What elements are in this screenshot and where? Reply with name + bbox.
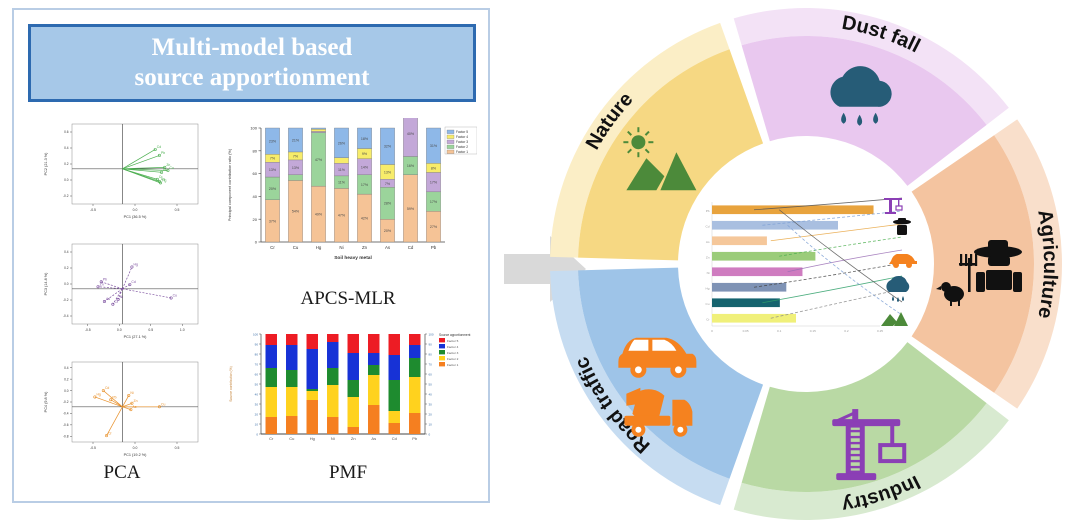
svg-text:16%: 16%: [407, 164, 415, 168]
title-line-1: Multi-model based: [152, 34, 353, 61]
svg-text:42%: 42%: [361, 217, 369, 221]
svg-text:Factor 1: Factor 1: [447, 363, 459, 367]
svg-text:PC3 (14.8 %): PC3 (14.8 %): [44, 272, 48, 296]
svg-text:Hg: Hg: [316, 245, 322, 250]
svg-text:0: 0: [429, 432, 431, 436]
svg-text:Factor 3: Factor 3: [447, 351, 459, 355]
svg-text:Source contribution (%): Source contribution (%): [229, 366, 233, 401]
svg-text:0.5: 0.5: [175, 446, 180, 450]
title-banner: Multi-model based source apportionment: [28, 24, 476, 102]
svg-text:-0.5: -0.5: [90, 208, 96, 212]
svg-text:90: 90: [255, 342, 259, 346]
svg-text:100: 100: [250, 126, 257, 131]
svg-text:Factor 5: Factor 5: [447, 339, 459, 343]
svg-text:26%: 26%: [338, 141, 346, 145]
svg-text:Cd: Cd: [157, 145, 161, 149]
svg-text:30: 30: [255, 402, 259, 406]
svg-text:Factor 5: Factor 5: [456, 130, 468, 134]
svg-text:-0.5: -0.5: [85, 328, 91, 332]
svg-text:Cu: Cu: [289, 436, 294, 441]
svg-text:80: 80: [429, 352, 433, 356]
svg-text:0.15: 0.15: [810, 329, 816, 333]
svg-text:40: 40: [255, 392, 259, 396]
svg-text:Hg: Hg: [134, 263, 138, 267]
svg-text:Hg: Hg: [162, 178, 166, 182]
svg-text:7%: 7%: [270, 157, 276, 161]
svg-text:70: 70: [255, 362, 259, 366]
svg-text:0.4: 0.4: [64, 366, 69, 370]
svg-text:Source apportionment: Source apportionment: [439, 333, 470, 337]
caption-pmf: PMF: [219, 462, 477, 484]
svg-text:Factor 2: Factor 2: [447, 357, 459, 361]
svg-text:Soil heavy metal: Soil heavy metal: [334, 255, 372, 261]
svg-text:30: 30: [429, 402, 433, 406]
pca-biplot-2: HgCdPbZnCuNiCrAs-0.50.00.51.0-0.4-0.20.0…: [38, 236, 206, 348]
svg-text:14%: 14%: [361, 165, 369, 169]
svg-text:27%: 27%: [430, 225, 438, 229]
svg-text:20%: 20%: [384, 229, 392, 233]
svg-text:As: As: [132, 405, 136, 409]
svg-text:40: 40: [429, 392, 433, 396]
svg-text:Pb: Pb: [706, 209, 710, 213]
svg-text:-0.2: -0.2: [63, 400, 69, 404]
pca-biplot-3: CdHgNiPbZnCuAsCr-0.50.00.5-0.8-0.6-0.4-0…: [38, 354, 206, 466]
svg-text:Zn: Zn: [351, 436, 356, 441]
svg-text:Cu: Cu: [161, 402, 165, 406]
svg-text:As: As: [371, 436, 376, 441]
svg-text:0.0: 0.0: [64, 282, 69, 286]
svg-text:Cr: Cr: [269, 436, 274, 441]
svg-text:17%: 17%: [430, 181, 438, 185]
svg-text:11%: 11%: [338, 168, 346, 172]
svg-text:50: 50: [429, 382, 433, 386]
svg-text:47%: 47%: [338, 214, 346, 218]
svg-text:17%: 17%: [361, 183, 369, 187]
pmf-chart: 0010102020303040405050606070708080909010…: [219, 322, 477, 462]
svg-text:47%: 47%: [315, 158, 323, 162]
svg-text:80: 80: [255, 352, 259, 356]
svg-text:Cr: Cr: [706, 317, 709, 321]
svg-text:Factor 2: Factor 2: [456, 145, 468, 149]
svg-text:0.0: 0.0: [133, 208, 138, 212]
svg-text:Cd: Cd: [408, 245, 414, 250]
svg-text:13%: 13%: [269, 168, 277, 172]
svg-text:Ni: Ni: [130, 391, 133, 395]
svg-text:PC1 (19.2 %): PC1 (19.2 %): [124, 453, 148, 457]
svg-text:0.0: 0.0: [133, 446, 138, 450]
svg-text:Zn: Zn: [100, 282, 104, 286]
svg-text:0.4: 0.4: [64, 146, 69, 150]
svg-text:59%: 59%: [407, 207, 415, 211]
svg-text:Cu: Cu: [170, 166, 174, 170]
svg-text:23%: 23%: [269, 140, 277, 144]
svg-text:Cu: Cu: [293, 245, 299, 250]
svg-text:100: 100: [253, 332, 258, 336]
caption-apcs-mlr: APCS-MLR: [219, 288, 477, 310]
svg-text:0.1: 0.1: [777, 329, 782, 333]
svg-text:As: As: [106, 297, 110, 301]
svg-text:0.2: 0.2: [64, 377, 69, 381]
svg-text:Ni: Ni: [707, 271, 710, 275]
svg-text:0.25: 0.25: [877, 329, 883, 333]
svg-text:9%: 9%: [362, 152, 368, 156]
svg-text:-0.8: -0.8: [63, 434, 69, 438]
svg-text:-0.4: -0.4: [63, 412, 69, 416]
svg-text:0.0: 0.0: [64, 178, 69, 182]
svg-text:100: 100: [429, 332, 434, 336]
svg-text:17%: 17%: [430, 200, 438, 204]
svg-text:Ni: Ni: [163, 168, 166, 172]
svg-text:0.5: 0.5: [148, 328, 153, 332]
svg-text:10: 10: [429, 422, 433, 426]
svg-text:40%: 40%: [407, 132, 415, 136]
svg-text:0.6: 0.6: [64, 130, 69, 134]
svg-text:50: 50: [255, 382, 259, 386]
svg-text:Pb: Pb: [431, 245, 437, 250]
svg-text:20: 20: [253, 217, 258, 222]
svg-text:0.2: 0.2: [844, 329, 849, 333]
svg-text:0.0: 0.0: [64, 389, 69, 393]
apcs-mlr-chart: 02040608010037%20%13%7%23%Cr54%13%7%21%C…: [219, 118, 477, 280]
svg-text:-0.6: -0.6: [63, 423, 69, 427]
svg-text:Zn: Zn: [362, 245, 368, 250]
svg-text:Hg: Hg: [706, 286, 710, 290]
svg-text:-0.2: -0.2: [63, 298, 69, 302]
svg-text:Factor 4: Factor 4: [447, 345, 459, 349]
svg-text:PC1 (36.5 %): PC1 (36.5 %): [124, 215, 148, 219]
svg-text:31%: 31%: [430, 144, 438, 148]
svg-text:Principal component contributi: Principal component contribution ratio (…: [227, 148, 232, 221]
svg-text:37%: 37%: [269, 219, 277, 223]
svg-text:Pb: Pb: [103, 277, 107, 281]
source-wheel: NatureDust fallAgricultureIndustryRoad t…: [548, 2, 1064, 526]
svg-text:Hg: Hg: [96, 393, 100, 397]
svg-text:PC4 (9.8 %): PC4 (9.8 %): [44, 391, 48, 412]
svg-text:80: 80: [253, 148, 258, 153]
svg-text:0: 0: [256, 432, 258, 436]
svg-text:70: 70: [429, 362, 433, 366]
title-line-2: source apportionment: [135, 64, 370, 91]
svg-text:28%: 28%: [384, 202, 392, 206]
svg-text:Ni: Ni: [331, 436, 335, 441]
svg-text:PC2 (21.3 %): PC2 (21.3 %): [44, 152, 48, 176]
svg-text:40: 40: [253, 194, 258, 199]
svg-text:Zn: Zn: [134, 399, 138, 403]
page-title: Multi-model based source apportionment: [135, 33, 370, 94]
svg-text:32%: 32%: [384, 145, 392, 149]
svg-text:As: As: [706, 240, 710, 244]
svg-text:Pb: Pb: [412, 436, 418, 441]
svg-text:Pb: Pb: [112, 395, 116, 399]
svg-text:Cd: Cd: [706, 224, 710, 228]
svg-text:0.5: 0.5: [175, 208, 180, 212]
svg-text:Ni: Ni: [339, 245, 343, 250]
svg-text:Factor 1: Factor 1: [456, 150, 468, 154]
svg-text:Ni: Ni: [120, 295, 123, 299]
svg-text:7%: 7%: [385, 182, 391, 186]
svg-text:10: 10: [255, 422, 259, 426]
svg-text:-0.5: -0.5: [90, 446, 96, 450]
svg-text:0.2: 0.2: [64, 266, 69, 270]
svg-text:Factor 3: Factor 3: [456, 140, 468, 144]
svg-text:20: 20: [255, 412, 259, 416]
svg-text:60: 60: [429, 372, 433, 376]
svg-text:60: 60: [255, 372, 259, 376]
svg-text:18%: 18%: [361, 137, 369, 141]
svg-text:Hg: Hg: [310, 436, 315, 441]
svg-text:8%: 8%: [431, 166, 437, 170]
svg-text:-0.4: -0.4: [63, 314, 69, 318]
svg-text:49%: 49%: [315, 213, 323, 217]
svg-text:Cr: Cr: [270, 245, 275, 250]
caption-pca: PCA: [38, 462, 206, 484]
svg-text:0.05: 0.05: [743, 329, 749, 333]
svg-text:54%: 54%: [292, 210, 300, 214]
svg-text:Cu: Cu: [706, 302, 710, 306]
svg-text:As: As: [385, 245, 391, 250]
svg-text:Cd: Cd: [131, 280, 135, 284]
svg-text:Cu: Cu: [173, 294, 177, 298]
svg-text:0: 0: [711, 329, 713, 333]
svg-text:Pb: Pb: [161, 151, 165, 155]
svg-text:0.4: 0.4: [64, 250, 69, 254]
svg-text:90: 90: [429, 342, 433, 346]
svg-text:20%: 20%: [269, 187, 277, 191]
svg-text:21%: 21%: [292, 138, 300, 142]
svg-text:13%: 13%: [384, 170, 392, 174]
left-panel: Multi-model based source apportionment C…: [12, 8, 490, 503]
svg-text:-0.2: -0.2: [63, 194, 69, 198]
svg-text:7%: 7%: [293, 154, 299, 158]
svg-text:60: 60: [253, 171, 258, 176]
svg-text:11%: 11%: [338, 181, 346, 185]
svg-text:13%: 13%: [292, 166, 300, 170]
svg-text:1.0: 1.0: [180, 328, 185, 332]
svg-text:Zn: Zn: [706, 255, 710, 259]
svg-text:0.2: 0.2: [64, 162, 69, 166]
pca-biplot-1: CdPbZnCuNiCrAsHg-0.50.00.5-0.20.00.20.40…: [38, 116, 206, 228]
svg-text:Factor 4: Factor 4: [456, 135, 468, 139]
svg-text:20: 20: [429, 412, 433, 416]
svg-text:Cd: Cd: [105, 386, 109, 390]
svg-text:PC1 (27.1 %): PC1 (27.1 %): [124, 335, 148, 339]
svg-text:0.0: 0.0: [117, 328, 122, 332]
svg-text:Cd: Cd: [392, 436, 397, 441]
svg-text:0: 0: [255, 240, 258, 245]
